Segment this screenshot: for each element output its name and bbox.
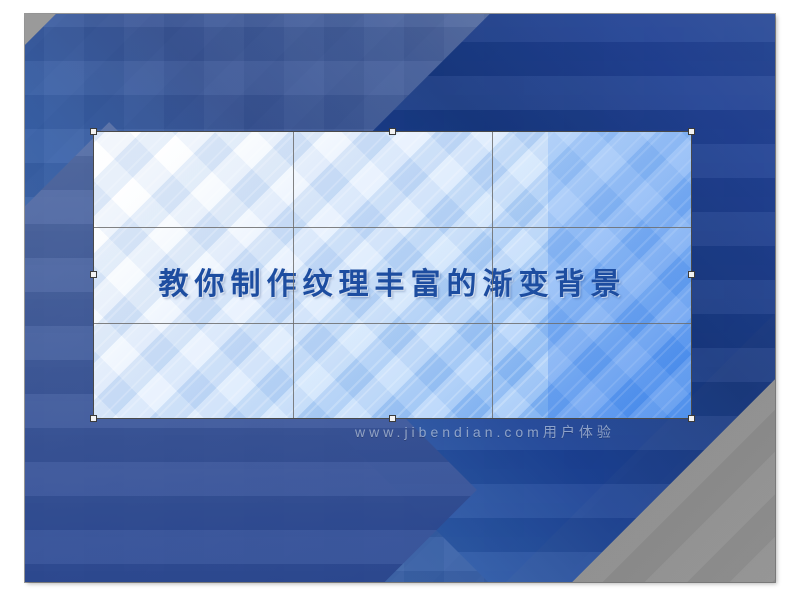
- crop-grid-vertical-2: [492, 131, 493, 419]
- crop-grid-horizontal-1: [93, 227, 692, 228]
- slide-title-text: 教你制作纹理丰富的渐变背景: [93, 259, 692, 303]
- gradient-texture-picture[interactable]: 教你制作纹理丰富的渐变背景: [93, 131, 692, 419]
- screenshot-stage: 教你制作纹理丰富的渐变背景 www.jibendian.com用户体验: [0, 0, 800, 600]
- slide-canvas[interactable]: 教你制作纹理丰富的渐变背景 www.jibendian.com用户体验: [25, 14, 775, 582]
- crop-grid-vertical-1: [293, 131, 294, 419]
- watermark-text: www.jibendian.com用户体验: [355, 422, 735, 442]
- crop-grid-horizontal-2: [93, 323, 692, 324]
